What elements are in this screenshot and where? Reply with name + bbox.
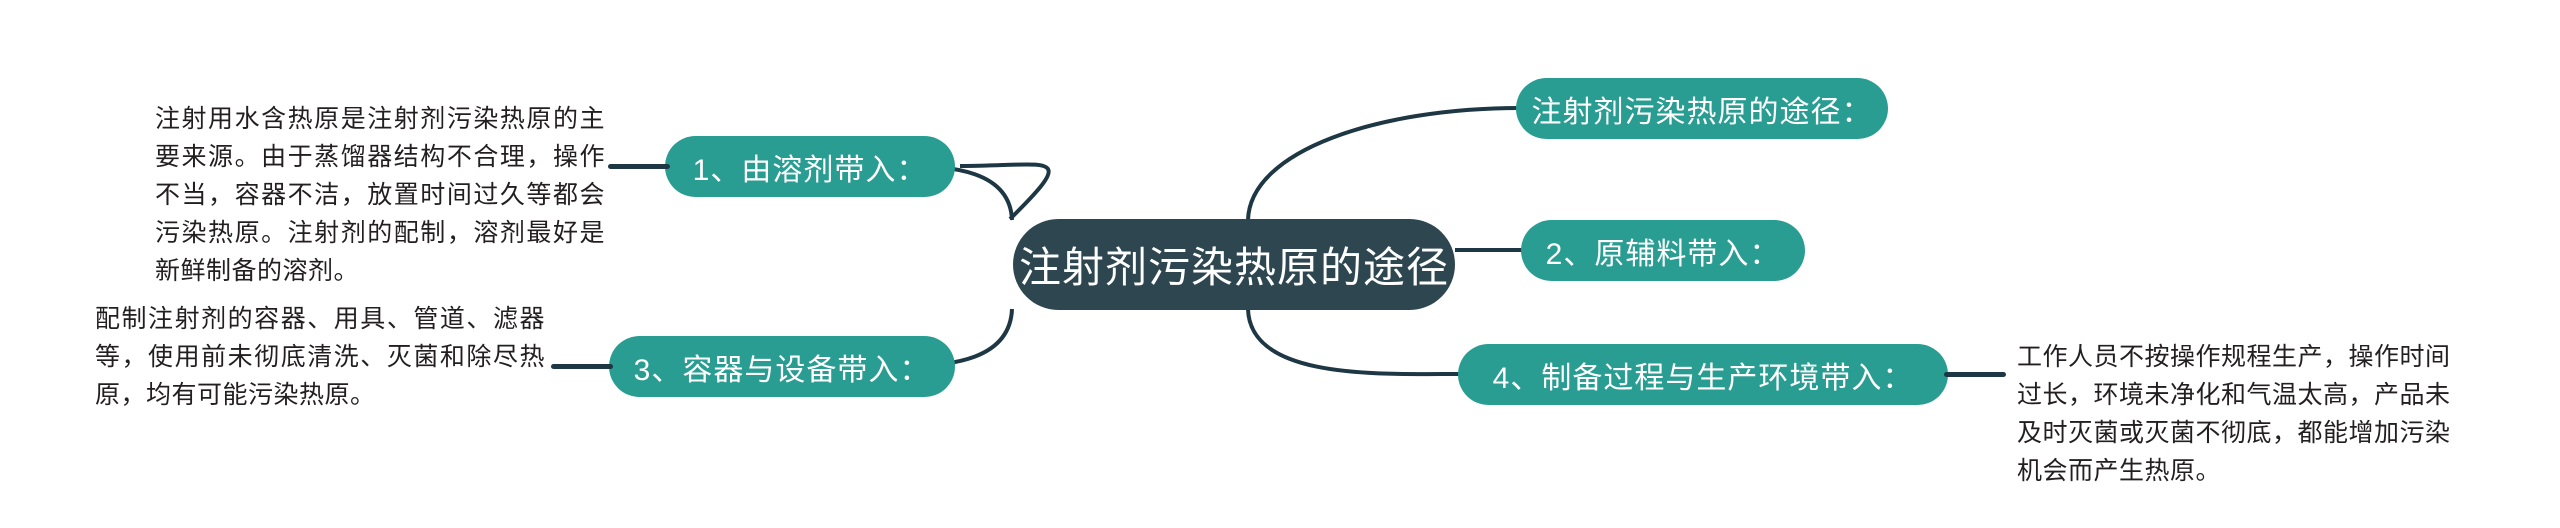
branch-4-detail-text: 配制注射剂的容器、用具、管道、滤器等，使用前未彻底清洗、灭菌和除尽热原，均有可能… — [95, 300, 545, 414]
stub-branch-4-detail — [551, 364, 613, 369]
branch-node-2[interactable]: 注射剂污染热原的途径： — [1516, 78, 1888, 139]
mindmap-canvas: 注射剂污染热原的途径 1、由溶剂带入： 注射剂污染热原的途径： 2、原辅料带入：… — [0, 0, 2560, 528]
connector-root-to-branch-5 — [1248, 309, 1460, 374]
branch-node-1-label: 1、由溶剂带入： — [693, 145, 928, 189]
branch-node-1[interactable]: 1、由溶剂带入： — [665, 136, 955, 197]
branch-node-5[interactable]: 4、制备过程与生产环境带入： — [1458, 344, 1948, 405]
branch-node-5-label: 4、制备过程与生产环境带入： — [1493, 353, 1914, 397]
branch-1-detail-text: 注射用水含热原是注射剂污染热原的主要来源。由于蒸馏器结构不合理，操作不当，容器不… — [155, 100, 605, 290]
stub-branch-1-detail — [608, 164, 670, 169]
branch-node-2-label: 注射剂污染热原的途径： — [1532, 87, 1873, 131]
branch-node-3[interactable]: 2、原辅料带入： — [1521, 220, 1805, 281]
connector-root-to-branch-1 — [960, 164, 1049, 219]
branch-node-4-label: 3、容器与设备带入： — [634, 345, 931, 389]
branch-5-detail-text: 工作人员不按操作规程生产，操作时间过长，环境未净化和气温太高，产品未及时灭菌或灭… — [2017, 338, 2475, 490]
branch-node-3-label: 2、原辅料带入： — [1546, 229, 1781, 273]
root-node[interactable]: 注射剂污染热原的途径 — [1013, 219, 1455, 310]
connector-root-to-branch-2 — [1248, 108, 1520, 220]
branch-node-4[interactable]: 3、容器与设备带入： — [609, 336, 955, 397]
stub-branch-5-detail — [1944, 372, 2006, 377]
root-node-label: 注射剂污染热原的途径 — [1019, 234, 1449, 295]
